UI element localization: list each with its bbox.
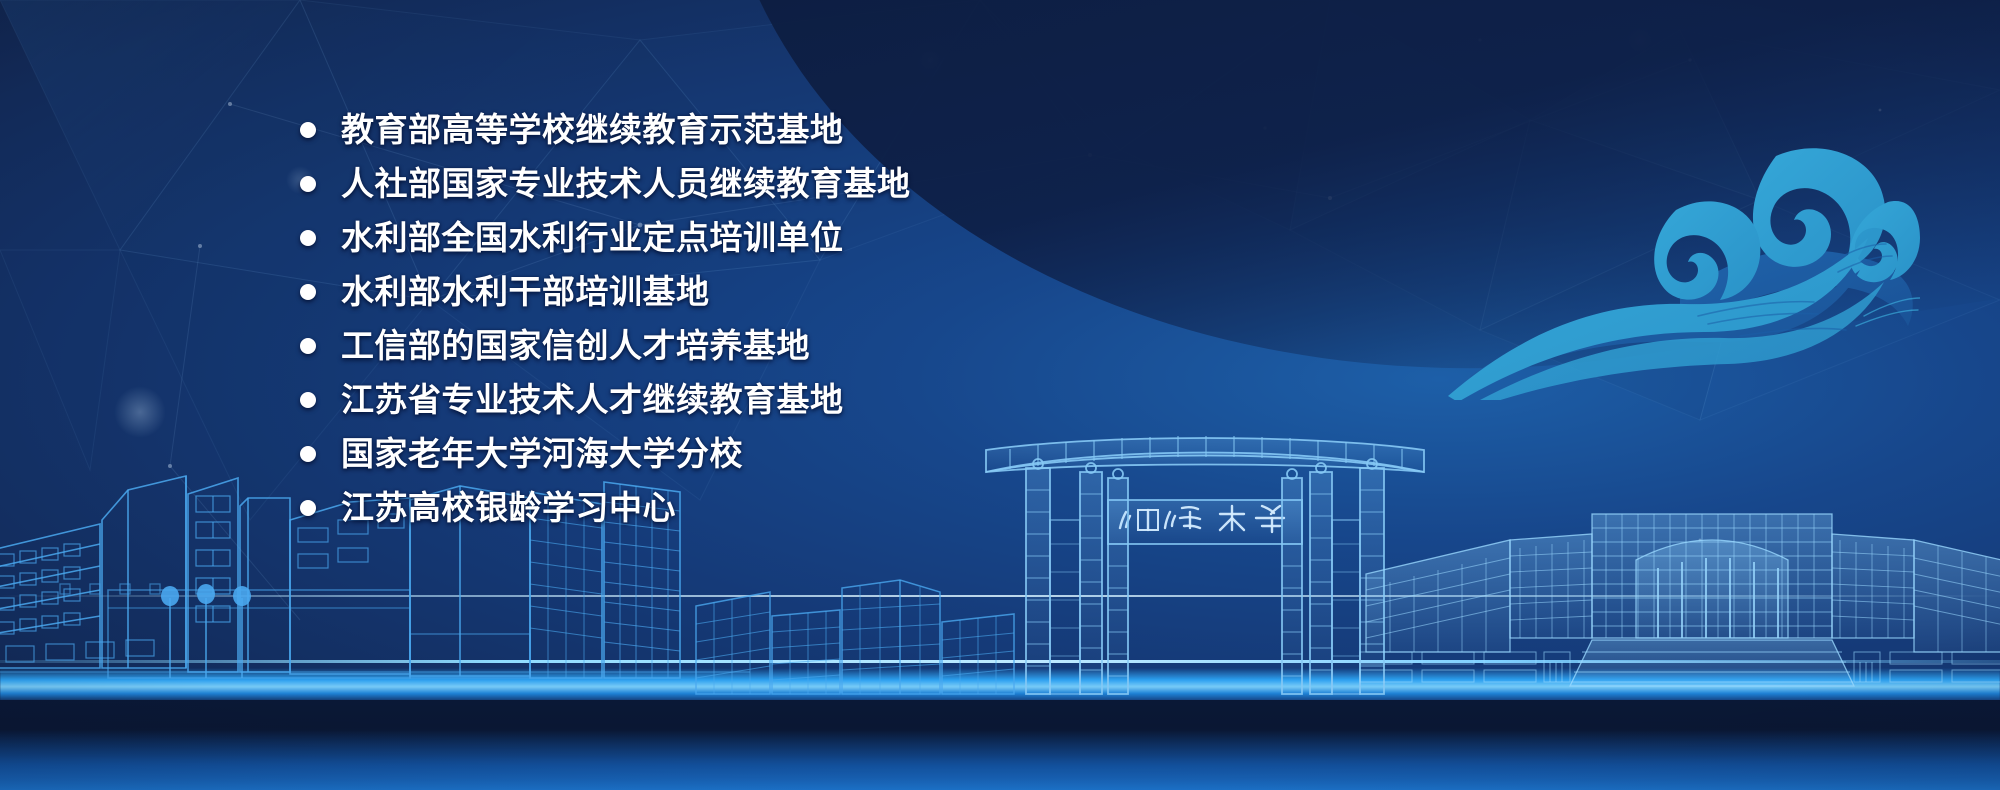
bottom-glow (0, 730, 2000, 790)
credential-label: 水利部全国水利行业定点培训单位 (341, 221, 844, 254)
foreground-ground (0, 700, 2000, 790)
list-item: 国家老年大学河海大学分校 (300, 432, 911, 475)
list-item: 工信部的国家信创人才培养基地 (300, 324, 911, 367)
credential-label: 工信部的国家信创人才培养基地 (341, 329, 810, 362)
list-item: 水利部水利干部培训基地 (300, 270, 911, 313)
bullet-icon (300, 230, 316, 246)
credential-label: 水利部水利干部培训基地 (341, 275, 710, 308)
bullet-icon (300, 446, 316, 462)
list-item: 水利部全国水利行业定点培训单位 (300, 216, 911, 259)
list-item: 教育部高等学校继续教育示范基地 (300, 108, 911, 151)
credential-label: 江苏省专业技术人才继续教育基地 (341, 383, 844, 416)
campus-buildings-mid (690, 552, 1020, 702)
bullet-icon (300, 392, 316, 408)
credential-label: 人社部国家专业技术人员继续教育基地 (341, 167, 911, 200)
credential-label: 江苏高校银龄学习中心 (341, 491, 676, 524)
banner-root: 教育部高等学校继续教育示范基地 人社部国家专业技术人员继续教育基地 水利部全国水… (0, 0, 2000, 790)
bullet-icon (300, 122, 316, 138)
main-building-right (1330, 512, 2000, 702)
bullet-icon (300, 500, 316, 516)
credentials-list: 教育部高等学校继续教育示范基地 人社部国家专业技术人员继续教育基地 水利部全国水… (300, 108, 911, 540)
list-item: 江苏省专业技术人才继续教育基地 (300, 378, 911, 421)
wave-cloud-emblem (1440, 120, 1920, 400)
credential-label: 教育部高等学校继续教育示范基地 (341, 113, 844, 146)
list-item: 江苏高校银龄学习中心 (300, 486, 911, 529)
list-item: 人社部国家专业技术人员继续教育基地 (300, 162, 911, 205)
credential-label: 国家老年大学河海大学分校 (341, 437, 743, 470)
bullet-icon (300, 284, 316, 300)
bullet-icon (300, 338, 316, 354)
bullet-icon (300, 176, 316, 192)
